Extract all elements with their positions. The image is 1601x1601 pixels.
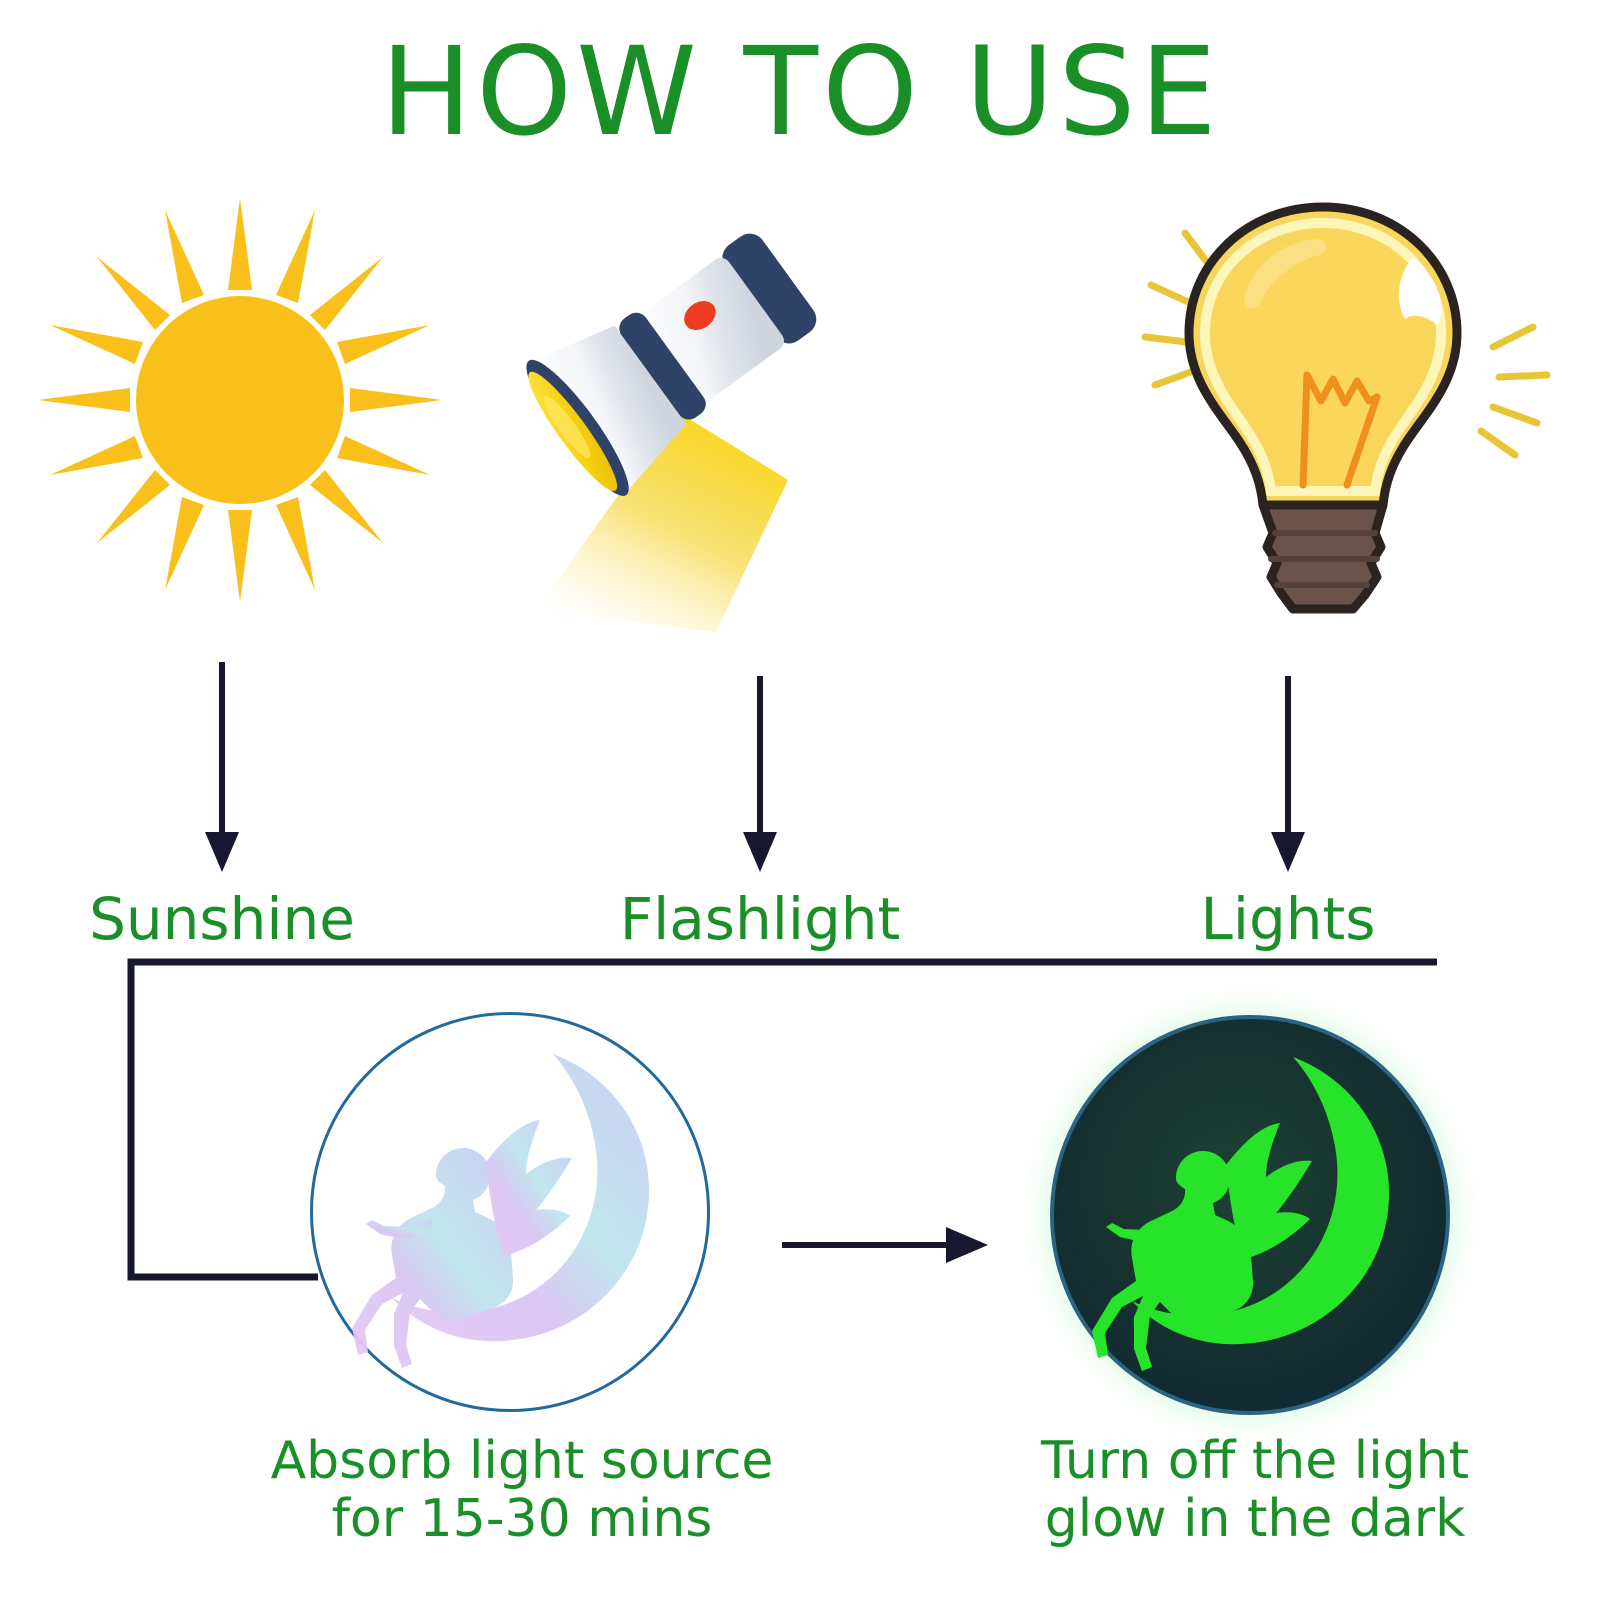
source-label-sunshine: Sunshine — [89, 885, 355, 953]
fairy-moon-glowing-icon — [1050, 1015, 1450, 1415]
arrow-down-icon-lights — [1271, 676, 1305, 872]
page-title: HOW TO USE — [0, 28, 1601, 156]
step-caption-glow: Turn off the light glow in the dark — [895, 1432, 1601, 1548]
light-bulb-icon — [1095, 185, 1555, 615]
source-label-flashlight: Flashlight — [620, 885, 901, 953]
source-label-lights: Lights — [1201, 885, 1376, 953]
sun-icon — [30, 190, 450, 610]
flashlight-icon — [520, 180, 970, 650]
infographic-canvas: HOW TO USE — [0, 0, 1601, 1601]
fairy-moon-unlit-icon — [310, 1012, 710, 1412]
arrow-down-icon-flashlight — [743, 676, 777, 872]
arrow-down-icon-sunshine — [205, 662, 239, 872]
bulb-base — [1263, 505, 1383, 609]
step-caption-absorb: Absorb light source for 15-30 mins — [162, 1432, 882, 1548]
arrow-right-icon — [782, 1227, 988, 1263]
